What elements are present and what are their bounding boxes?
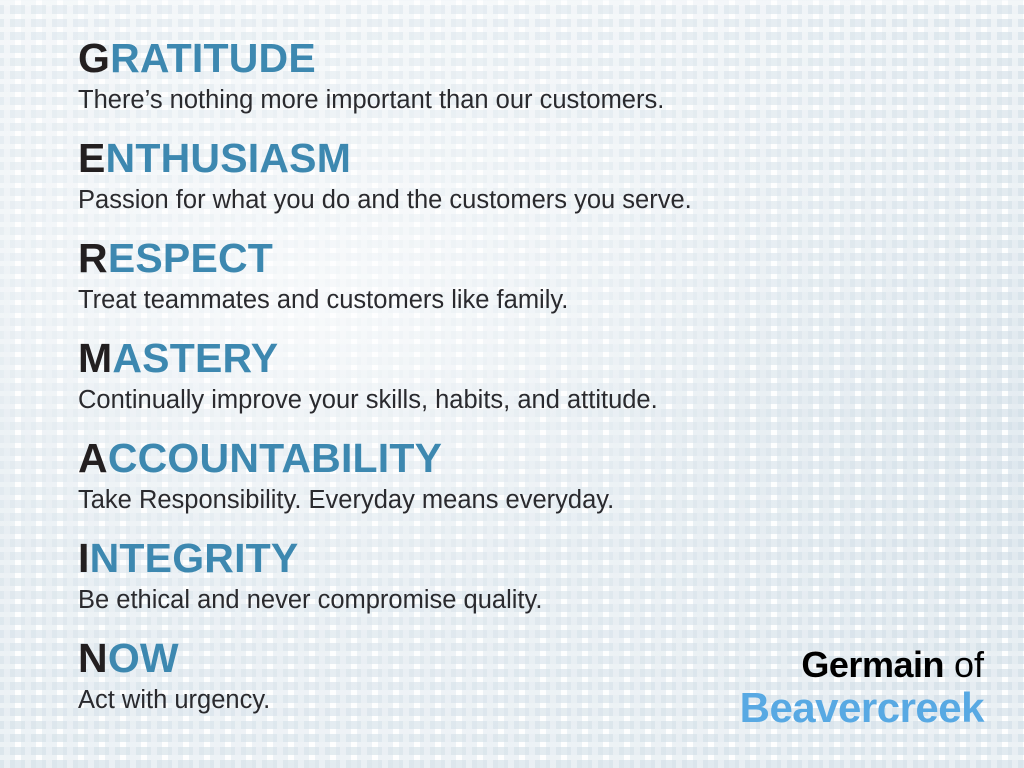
value-heading-rest: CCOUNTABILITY — [108, 435, 442, 481]
value-description: There’s nothing more important than our … — [78, 83, 958, 117]
value-heading-rest: RATITUDE — [110, 35, 316, 81]
value-description: Passion for what you do and the customer… — [78, 183, 958, 217]
value-heading-rest: OW — [108, 635, 179, 681]
value-description: Treat teammates and customers like famil… — [78, 283, 958, 317]
value-initial-letter: A — [78, 435, 108, 481]
value-heading-rest: NTHUSIASM — [106, 135, 352, 181]
core-values-list: GRATITUDE There’s nothing more important… — [78, 34, 958, 717]
slide-canvas: GRATITUDE There’s nothing more important… — [0, 0, 1024, 768]
logo-connector: of — [944, 644, 984, 685]
value-heading-rest: ESPECT — [108, 235, 273, 281]
value-initial-letter: R — [78, 235, 108, 281]
logo-brand-name: Germain — [801, 644, 944, 685]
value-initial-letter: M — [78, 335, 112, 381]
logo-location-name: Beavercreek — [740, 685, 984, 731]
value-initial-letter: I — [78, 535, 90, 581]
value-heading: INTEGRITY — [78, 534, 958, 582]
value-description: Continually improve your skills, habits,… — [78, 383, 958, 417]
value-initial-letter: E — [78, 135, 106, 181]
dealership-logo: Germain of Beavercreek — [740, 645, 984, 731]
value-item-integrity: INTEGRITY Be ethical and never compromis… — [78, 534, 958, 617]
value-heading: ACCOUNTABILITY — [78, 434, 958, 482]
value-heading-rest: ASTERY — [112, 335, 278, 381]
logo-line-primary: Germain of — [740, 645, 984, 685]
value-heading: ENTHUSIASM — [78, 134, 958, 182]
value-item-respect: RESPECT Treat teammates and customers li… — [78, 234, 958, 317]
value-item-accountability: ACCOUNTABILITY Take Responsibility. Ever… — [78, 434, 958, 517]
value-initial-letter: N — [78, 635, 108, 681]
value-description: Be ethical and never compromise quality. — [78, 583, 958, 617]
value-initial-letter: G — [78, 35, 110, 81]
value-description: Take Responsibility. Everyday means ever… — [78, 483, 958, 517]
value-heading: MASTERY — [78, 334, 958, 382]
value-item-mastery: MASTERY Continually improve your skills,… — [78, 334, 958, 417]
value-item-gratitude: GRATITUDE There’s nothing more important… — [78, 34, 958, 117]
value-heading: RESPECT — [78, 234, 958, 282]
value-item-enthusiasm: ENTHUSIASM Passion for what you do and t… — [78, 134, 958, 217]
value-heading: GRATITUDE — [78, 34, 958, 82]
value-heading-rest: NTEGRITY — [90, 535, 299, 581]
